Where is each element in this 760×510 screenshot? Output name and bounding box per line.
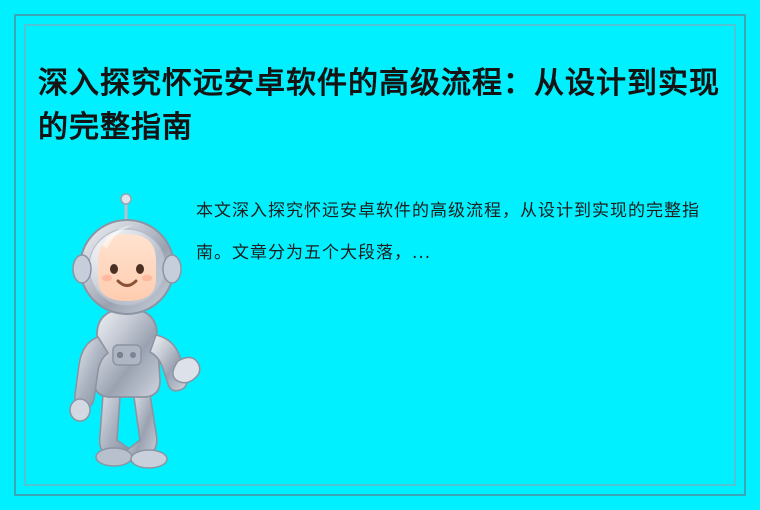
antenna-icon [121, 194, 131, 219]
article-summary-text: 本文深入探究怀远安卓软件的高级流程，从设计到实现的完整指南。文章分为五个大段落，… [196, 190, 724, 274]
page-title: 深入探究怀远安卓软件的高级流程：从设计到实现的完整指南 [38, 62, 728, 150]
article-cover-card: 深入探究怀远安卓软件的高级流程：从设计到实现的完整指南 本文深入探究怀远安卓软件… [0, 0, 760, 510]
astronaut-illustration [52, 185, 202, 470]
